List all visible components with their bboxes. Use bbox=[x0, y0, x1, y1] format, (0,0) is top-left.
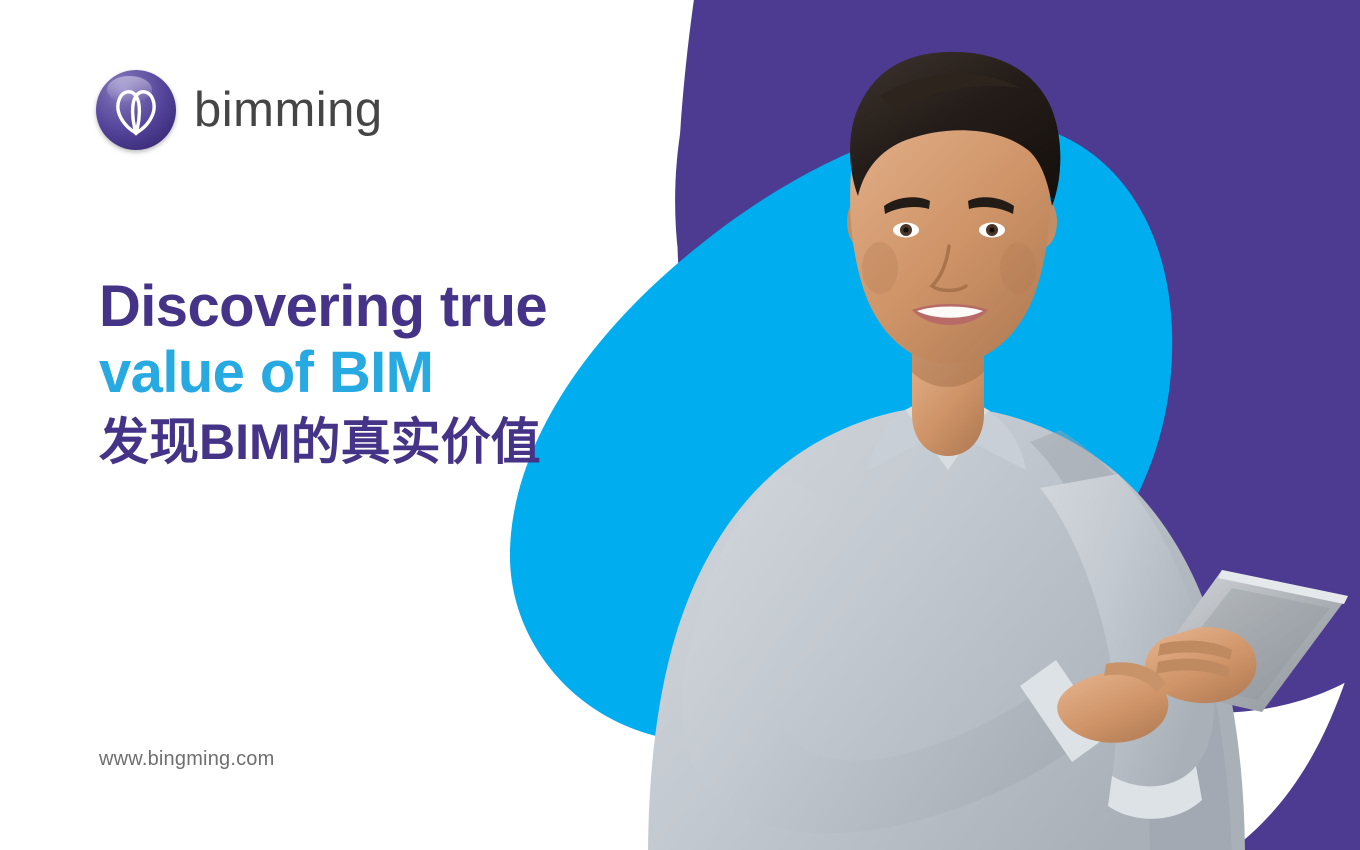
headline-line-2: value of BIM bbox=[99, 340, 719, 406]
brand-wordmark: bimming bbox=[194, 86, 383, 135]
cheek-shade-right bbox=[1000, 242, 1036, 294]
headline-line-1: Discovering true bbox=[99, 274, 719, 340]
website-url[interactable]: www.bingming.com bbox=[99, 748, 275, 771]
hero-banner: bimming Discovering true value of BIM 发现… bbox=[0, 0, 1360, 850]
pupil-right bbox=[989, 227, 994, 232]
headline-block: Discovering true value of BIM 发现BIM的真实价值 bbox=[99, 274, 719, 472]
brand-logo[interactable]: bimming bbox=[96, 70, 383, 150]
cheek-shade-left bbox=[862, 242, 898, 294]
bimming-loops-sphere-icon bbox=[96, 70, 176, 150]
pupil-left bbox=[903, 227, 908, 232]
headline-line-chinese: 发现BIM的真实价值 bbox=[99, 414, 719, 472]
